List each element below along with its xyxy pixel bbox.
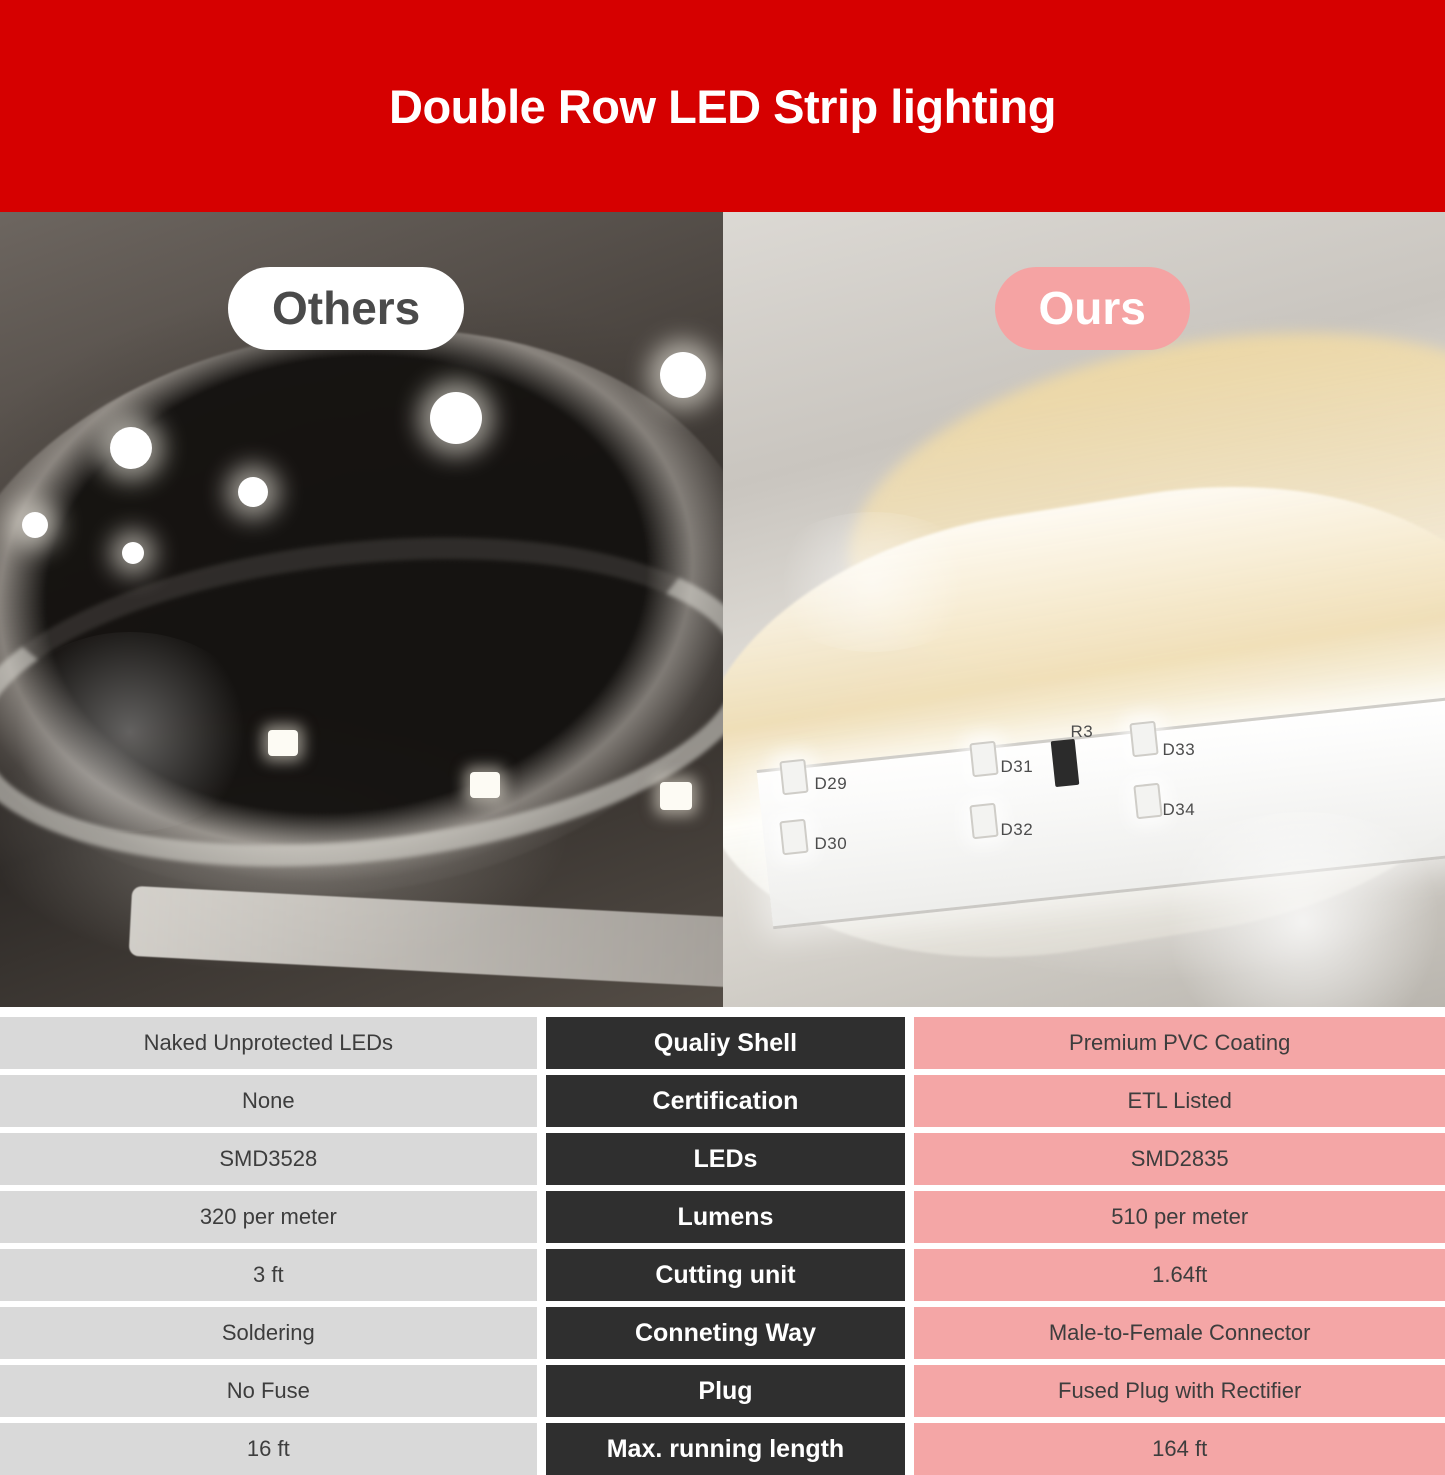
surface-glare: [763, 512, 983, 652]
cell-feature: Qualiy Shell: [546, 1017, 906, 1069]
pcb-label-d34: D34: [1163, 800, 1196, 820]
cell-others: No Fuse: [0, 1365, 537, 1417]
table-row: 320 per meter Lumens 510 per meter: [0, 1191, 1445, 1243]
others-strip-band: [129, 886, 723, 988]
badge-others: Others: [228, 267, 464, 350]
cell-ours: Premium PVC Coating: [914, 1017, 1445, 1069]
cell-feature: Max. running length: [546, 1423, 906, 1475]
led-glow-dot: [430, 392, 482, 444]
table-row: Soldering Conneting Way Male-to-Female C…: [0, 1307, 1445, 1359]
product-comparison-infographic: Double Row LED Strip lighting Others: [0, 0, 1445, 1445]
cell-others: 320 per meter: [0, 1191, 537, 1243]
cell-ours: 1.64ft: [914, 1249, 1445, 1301]
table-row: SMD3528 LEDs SMD2835: [0, 1133, 1445, 1185]
header-banner: Double Row LED Strip lighting: [0, 0, 1445, 212]
cell-feature: Lumens: [546, 1191, 906, 1243]
cell-others: 3 ft: [0, 1249, 537, 1301]
pcb-label-d31: D31: [1001, 757, 1034, 777]
cell-feature: Cutting unit: [546, 1249, 906, 1301]
led-chip: [268, 730, 298, 756]
table-row: 16 ft Max. running length 164 ft: [0, 1423, 1445, 1475]
pcb-label-d29: D29: [815, 774, 848, 794]
cell-others: Naked Unprotected LEDs: [0, 1017, 537, 1069]
cell-ours: Fused Plug with Rectifier: [914, 1365, 1445, 1417]
led-glow-dot: [110, 427, 152, 469]
table-row: No Fuse Plug Fused Plug with Rectifier: [0, 1365, 1445, 1417]
pcb-label-d30: D30: [815, 834, 848, 854]
badge-ours: Ours: [995, 267, 1190, 350]
led-chip: [779, 819, 808, 856]
cell-feature: Conneting Way: [546, 1307, 906, 1359]
surface-glare: [0, 632, 260, 832]
cell-ours: ETL Listed: [914, 1075, 1445, 1127]
comparison-table: Naked Unprotected LEDs Qualiy Shell Prem…: [0, 1007, 1445, 1475]
pcb-label-d33: D33: [1163, 740, 1196, 760]
table-row: 3 ft Cutting unit 1.64ft: [0, 1249, 1445, 1301]
cell-others: 16 ft: [0, 1423, 537, 1475]
led-chip: [470, 772, 500, 798]
page-title: Double Row LED Strip lighting: [389, 79, 1056, 134]
cell-ours: Male-to-Female Connector: [914, 1307, 1445, 1359]
badge-others-label: Others: [272, 282, 420, 334]
pcb-label-d32: D32: [1001, 820, 1034, 840]
led-chip: [1133, 783, 1162, 820]
led-glow-dot: [660, 352, 706, 398]
cell-others: None: [0, 1075, 537, 1127]
badge-ours-label: Ours: [1039, 282, 1146, 334]
led-chip: [969, 803, 998, 840]
table-row: Naked Unprotected LEDs Qualiy Shell Prem…: [0, 1017, 1445, 1069]
pcb-label-r3: R3: [1071, 722, 1094, 742]
led-glow-dot: [22, 512, 48, 538]
cell-others: Soldering: [0, 1307, 537, 1359]
led-glow-dot: [122, 542, 144, 564]
photo-comparison: Others D29 D30 D31 D32 D33 D34 R3 Our: [0, 212, 1445, 1007]
cell-others: SMD3528: [0, 1133, 537, 1185]
cell-feature: Certification: [546, 1075, 906, 1127]
cell-ours: 510 per meter: [914, 1191, 1445, 1243]
cell-feature: LEDs: [546, 1133, 906, 1185]
cell-ours: SMD2835: [914, 1133, 1445, 1185]
cell-ours: 164 ft: [914, 1423, 1445, 1475]
led-chip: [660, 782, 692, 810]
cell-feature: Plug: [546, 1365, 906, 1417]
led-glow-dot: [238, 477, 268, 507]
resistor-chip: [1050, 739, 1079, 787]
photo-ours: D29 D30 D31 D32 D33 D34 R3 Ours: [723, 212, 1445, 1007]
table-row: None Certification ETL Listed: [0, 1075, 1445, 1127]
led-chip: [779, 759, 808, 796]
led-chip: [1129, 721, 1158, 758]
led-chip: [969, 741, 998, 778]
photo-others: Others: [0, 212, 723, 1007]
